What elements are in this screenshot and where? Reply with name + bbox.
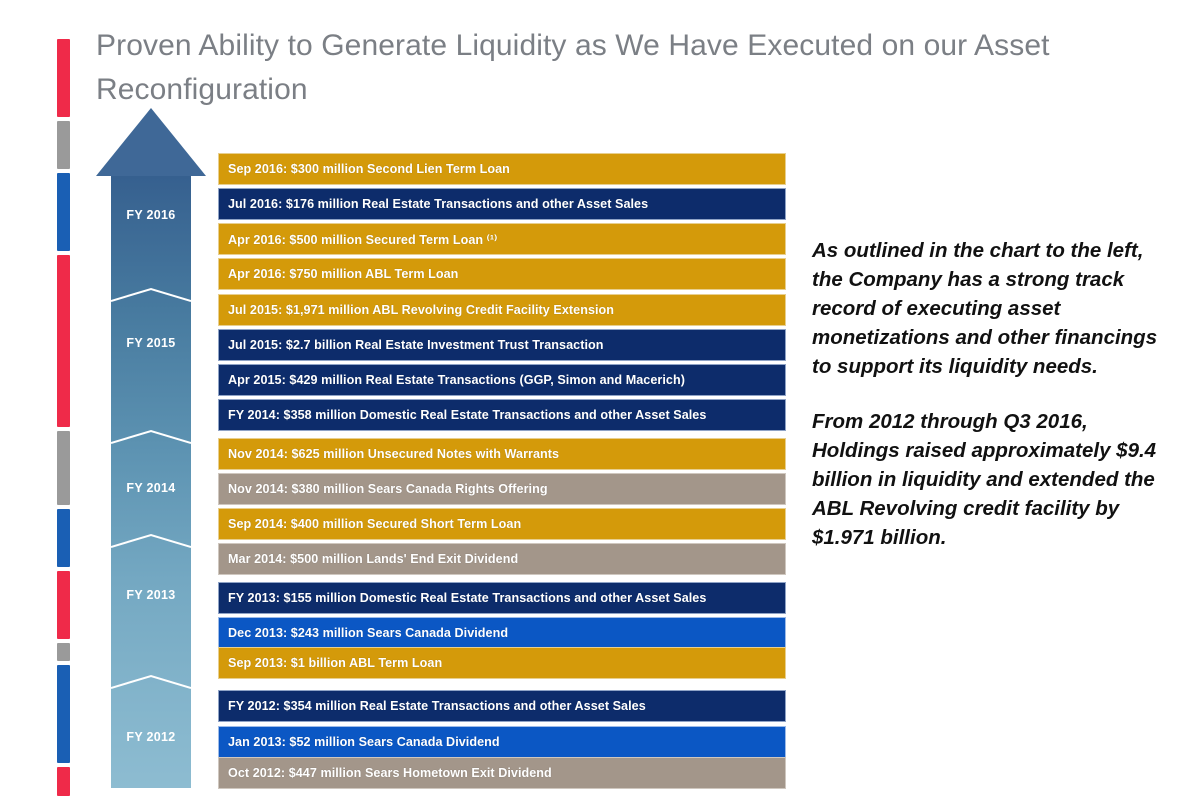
fiscal-year-label-fy-2016: FY 2016 bbox=[111, 208, 191, 222]
accent-stripe-segment bbox=[57, 39, 70, 117]
milestone-bar-label: Nov 2014: $380 million Sears Canada Righ… bbox=[228, 482, 548, 496]
milestone-bar[interactable]: Jul 2016: $176 million Real Estate Trans… bbox=[218, 188, 786, 220]
milestone-bar-label: Apr 2016: $500 million Secured Term Loan… bbox=[228, 232, 497, 247]
accent-stripe-segment bbox=[57, 509, 70, 567]
milestone-bar[interactable]: Mar 2014: $500 million Lands' End Exit D… bbox=[218, 543, 786, 575]
milestone-bar[interactable]: Nov 2014: $380 million Sears Canada Righ… bbox=[218, 473, 786, 505]
milestone-bar[interactable]: Dec 2013: $243 million Sears Canada Divi… bbox=[218, 617, 786, 649]
milestone-bar[interactable]: Sep 2014: $400 million Secured Short Ter… bbox=[218, 508, 786, 540]
milestone-bar[interactable]: FY 2014: $358 million Domestic Real Esta… bbox=[218, 399, 786, 431]
milestone-bar[interactable]: Apr 2015: $429 million Real Estate Trans… bbox=[218, 364, 786, 396]
milestone-bar-label: Nov 2014: $625 million Unsecured Notes w… bbox=[228, 447, 559, 461]
fiscal-year-label-fy-2014: FY 2014 bbox=[111, 481, 191, 495]
milestone-bar-label: Sep 2016: $300 million Second Lien Term … bbox=[228, 162, 510, 176]
milestone-bar[interactable]: Jan 2013: $52 million Sears Canada Divid… bbox=[218, 726, 786, 758]
milestone-bar-label: Jul 2015: $1,971 million ABL Revolving C… bbox=[228, 303, 614, 317]
milestone-bar-label: Jan 2013: $52 million Sears Canada Divid… bbox=[228, 735, 500, 749]
milestone-bar-label: Dec 2013: $243 million Sears Canada Divi… bbox=[228, 626, 508, 640]
milestone-bar-label: Sep 2013: $1 billion ABL Term Loan bbox=[228, 656, 442, 670]
milestone-bar-label: Jul 2015: $2.7 billion Real Estate Inves… bbox=[228, 338, 604, 352]
milestone-bar-label: Mar 2014: $500 million Lands' End Exit D… bbox=[228, 552, 518, 566]
fiscal-year-label-fy-2013: FY 2013 bbox=[111, 588, 191, 602]
accent-stripe-segment bbox=[57, 173, 70, 251]
milestone-bar-label: FY 2014: $358 million Domestic Real Esta… bbox=[228, 408, 706, 422]
milestone-bar[interactable]: Sep 2016: $300 million Second Lien Term … bbox=[218, 153, 786, 185]
milestone-bar[interactable]: FY 2012: $354 million Real Estate Transa… bbox=[218, 690, 786, 722]
commentary-paragraph-2: From 2012 through Q3 2016, Holdings rais… bbox=[812, 407, 1162, 552]
milestone-bar[interactable]: Nov 2014: $625 million Unsecured Notes w… bbox=[218, 438, 786, 470]
chevron-divider-icon bbox=[111, 673, 191, 691]
fiscal-year-label-fy-2012: FY 2012 bbox=[111, 730, 191, 744]
milestone-bar[interactable]: Apr 2016: $500 million Secured Term Loan… bbox=[218, 223, 786, 255]
accent-stripe-segment bbox=[57, 121, 70, 169]
chevron-divider-icon bbox=[111, 428, 191, 446]
milestone-bar-label: FY 2012: $354 million Real Estate Transa… bbox=[228, 699, 646, 713]
milestone-bar-label: Apr 2015: $429 million Real Estate Trans… bbox=[228, 373, 685, 387]
accent-stripe-segment bbox=[57, 431, 70, 505]
accent-stripe-segment bbox=[57, 767, 70, 796]
accent-stripe-segment bbox=[57, 571, 70, 639]
milestone-bar[interactable]: Apr 2016: $750 million ABL Term Loan bbox=[218, 258, 786, 290]
chevron-divider-icon bbox=[111, 286, 191, 304]
left-accent-stripe bbox=[57, 0, 70, 796]
fiscal-year-timeline-arrow: FY 2016FY 2015FY 2014FY 2013FY 2012 bbox=[96, 108, 206, 788]
milestone-bar[interactable]: Jul 2015: $1,971 million ABL Revolving C… bbox=[218, 294, 786, 326]
accent-stripe-segment bbox=[57, 255, 70, 427]
milestone-bar-list: Sep 2016: $300 million Second Lien Term … bbox=[218, 0, 788, 796]
milestone-bar[interactable]: FY 2013: $155 million Domestic Real Esta… bbox=[218, 582, 786, 614]
milestone-bar[interactable]: Oct 2012: $447 million Sears Hometown Ex… bbox=[218, 757, 786, 789]
milestone-bar-label: FY 2013: $155 million Domestic Real Esta… bbox=[228, 591, 706, 605]
chevron-divider-icon bbox=[111, 532, 191, 550]
milestone-bar-label: Sep 2014: $400 million Secured Short Ter… bbox=[228, 517, 521, 531]
commentary-panel: As outlined in the chart to the left, th… bbox=[812, 236, 1162, 578]
milestone-bar[interactable]: Sep 2013: $1 billion ABL Term Loan bbox=[218, 647, 786, 679]
milestone-bar[interactable]: Jul 2015: $2.7 billion Real Estate Inves… bbox=[218, 329, 786, 361]
fiscal-year-label-fy-2015: FY 2015 bbox=[111, 336, 191, 350]
accent-stripe-segment bbox=[57, 643, 70, 661]
milestone-bar-label: Oct 2012: $447 million Sears Hometown Ex… bbox=[228, 766, 552, 780]
arrow-head-icon bbox=[96, 108, 206, 176]
milestone-bar-label: Apr 2016: $750 million ABL Term Loan bbox=[228, 267, 458, 281]
commentary-paragraph-1: As outlined in the chart to the left, th… bbox=[812, 236, 1162, 381]
milestone-bar-label: Jul 2016: $176 million Real Estate Trans… bbox=[228, 197, 648, 211]
accent-stripe-segment bbox=[57, 665, 70, 763]
